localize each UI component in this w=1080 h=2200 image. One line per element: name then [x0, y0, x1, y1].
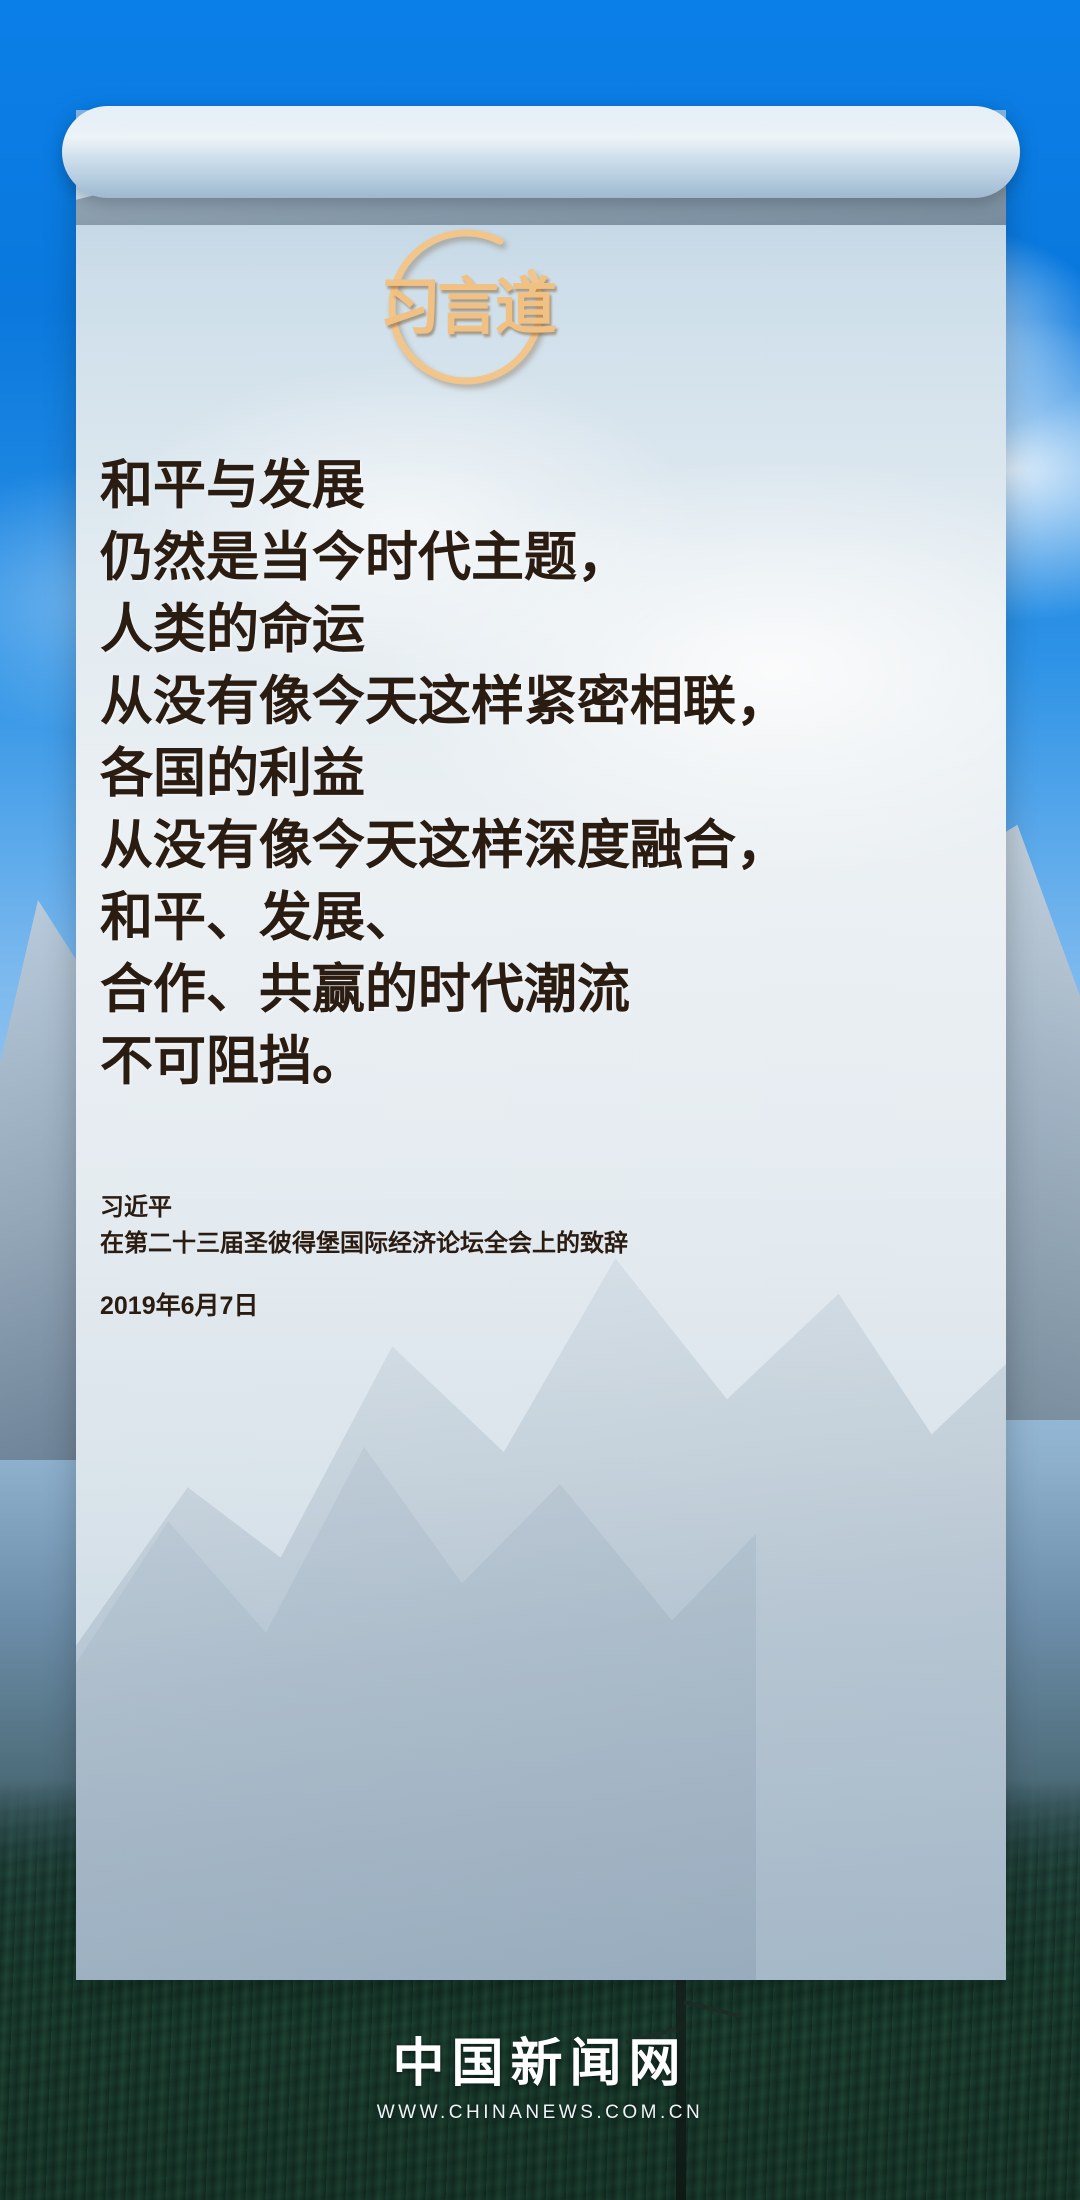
quote-block: 和平与发展 仍然是当今时代主题， 人类的命运 从没有像今天这样紧密相联， 各国的… — [100, 450, 980, 1098]
site-brand-url: WWW.CHINANEWS.COM.CN — [0, 2102, 1080, 2124]
scroll-roll-highlight — [62, 106, 1020, 198]
attribution-occasion: 在第二十三届圣彼得堡国际经济论坛全会上的致辞 — [100, 1226, 940, 1262]
attribution-date: 2019年6月7日 — [100, 1288, 940, 1324]
quote-line: 和平、发展、 — [100, 882, 980, 954]
xi-yan-dao-seal-icon: 习言道 — [381, 222, 551, 392]
attribution-speaker: 习近平 — [100, 1190, 940, 1226]
quote-card: 习言道 和平与发展 仍然是当今时代主题， 人类的命运 从没有像今天这样紧密相联，… — [76, 110, 1006, 1980]
scroll-roll — [62, 106, 1020, 198]
attribution-block: 习近平 在第二十三届圣彼得堡国际经济论坛全会上的致辞 2019年6月7日 — [100, 1190, 940, 1324]
quote-line: 合作、共赢的时代潮流 — [100, 954, 980, 1026]
poster: 习言道 和平与发展 仍然是当今时代主题， 人类的命运 从没有像今天这样紧密相联，… — [0, 0, 1080, 2200]
quote-line: 不可阻挡。 — [100, 1026, 980, 1098]
seal-label: 习言道 — [381, 222, 551, 392]
quote-line: 和平与发展 — [100, 450, 980, 522]
quote-line: 从没有像今天这样紧密相联， — [100, 666, 980, 738]
site-brand: 中国新闻网 WWW.CHINANEWS.COM.CN — [0, 2035, 1080, 2124]
quote-line: 从没有像今天这样深度融合， — [100, 810, 980, 882]
quote-line: 人类的命运 — [100, 594, 980, 666]
quote-line: 仍然是当今时代主题， — [100, 522, 980, 594]
site-brand-name: 中国新闻网 — [0, 2035, 1080, 2092]
quote-line: 各国的利益 — [100, 738, 980, 810]
